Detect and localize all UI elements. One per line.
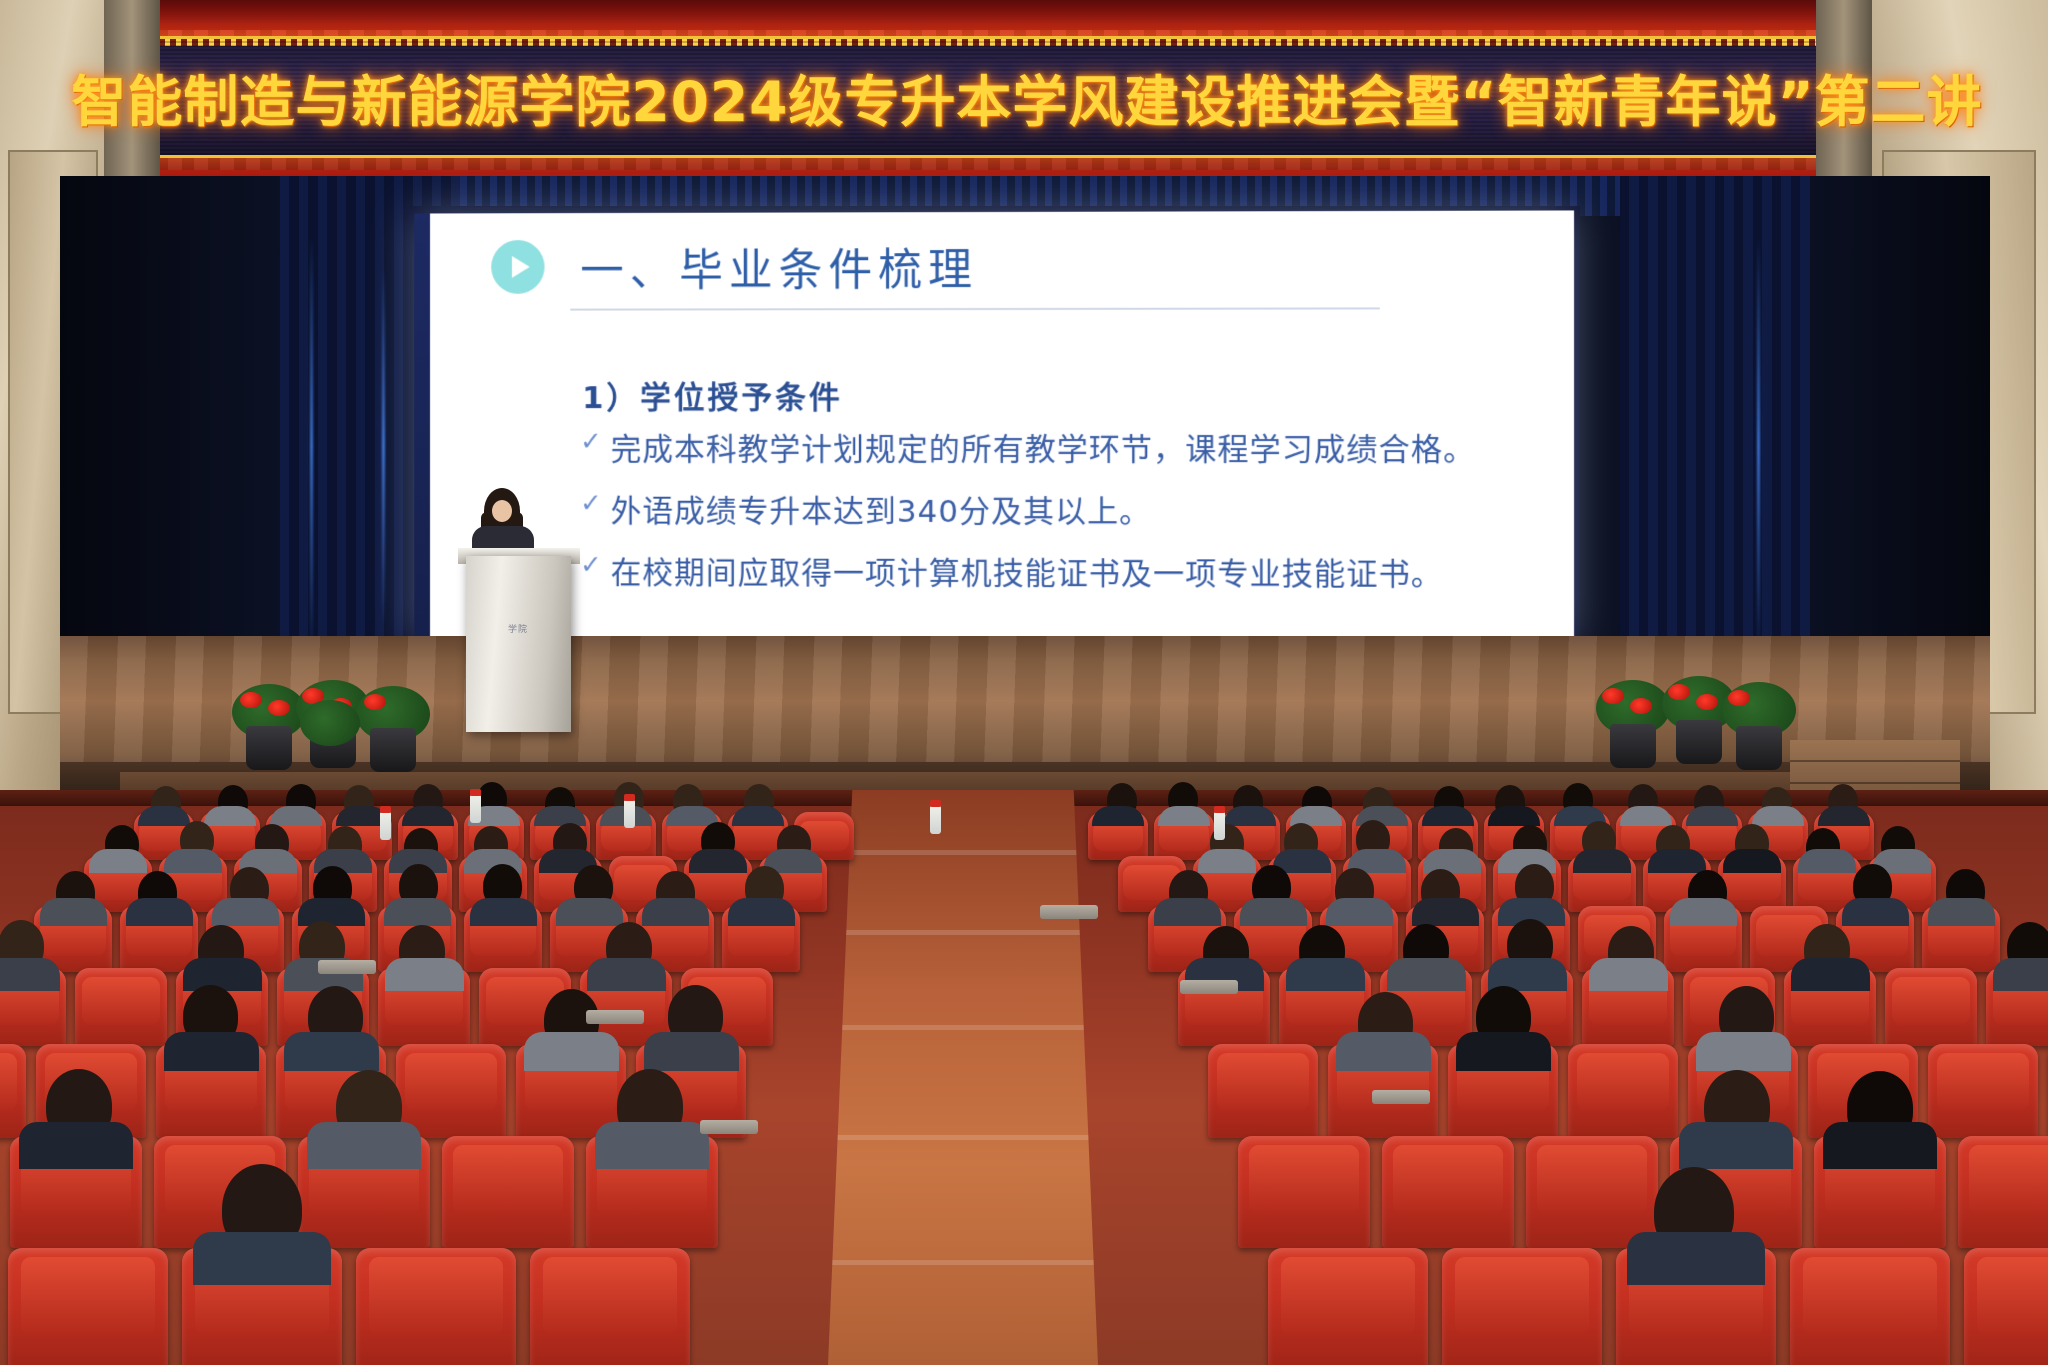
slide-bullet: ✓ 完成本科教学计划规定的所有教学环节，课程学习成绩合格。 [580,424,1475,469]
audience-shoulders [587,958,666,991]
seat [1958,1136,2048,1248]
audience-shoulders [385,958,464,991]
seat [1442,1248,1602,1365]
bottle-cap [470,789,481,796]
water-bottle [930,806,941,834]
seat [1382,1136,1514,1248]
slide-bullet-text: 完成本科教学计划规定的所有教学环节，课程学习成绩合格。 [611,424,1476,469]
audience-shoulders [164,849,222,873]
bottle-cap [380,806,391,813]
podium-sign-text: 学院 [474,622,562,638]
water-bottle [1214,812,1225,840]
seat [0,1044,26,1138]
audience-shoulders [307,1122,421,1169]
tablet-arm-desk [586,1010,644,1024]
audience-shoulders [19,1122,133,1169]
bottle-cap [930,800,941,807]
podium: 学院 [466,556,571,732]
audience-shoulders [1387,958,1466,991]
seat [1790,1248,1950,1365]
audience-shoulders [689,849,747,873]
seat [1964,1248,2048,1365]
audience-shoulders [270,806,322,826]
bottle-cap [624,794,635,801]
audience-shoulders [1928,898,1995,926]
bottle-cap [1214,806,1225,813]
seat [1208,1044,1318,1138]
audience-shoulders [402,806,454,826]
slide-subtitle: 1）学位授予条件 [582,372,843,417]
audience-shoulders [212,898,279,926]
water-bottle [470,795,481,823]
audience-shoulders [1423,849,1481,873]
seat [1885,968,1977,1046]
audience-shoulders [1696,1032,1791,1071]
check-icon: ✓ [580,547,603,583]
audience-shoulders [126,898,193,926]
audience-shoulders [728,898,795,926]
audience-shoulders [204,806,256,826]
audience-shoulders [1198,849,1256,873]
slide-title-row: 一、毕业条件梳理 [491,234,978,299]
seat [442,1136,574,1248]
audience-shoulders [1158,806,1210,826]
audience-shoulders [1818,806,1870,826]
audience-shoulders [642,898,709,926]
audience-shoulders [556,898,623,926]
audience-shoulders [1686,806,1738,826]
audience-shoulders [284,1032,379,1071]
audience-shoulders [1670,898,1737,926]
audience-shoulders [1842,898,1909,926]
seat [530,1248,690,1365]
seat [8,1248,168,1365]
stage-light-beam-left-2 [382,266,385,626]
check-icon: ✓ [580,486,603,522]
audience-shoulders [1336,1032,1431,1071]
auditorium-scene: 智能制造与新能源学院2024级专升本学风建设推进会暨“智新青年说”第二讲 一、毕… [0,0,2048,1365]
audience-shoulders [595,1122,709,1169]
audience-shoulders [470,898,537,926]
slide-bullet: ✓ 在校期间应取得一项计算机技能证书及一项专业技能证书。 [580,547,1475,594]
seat [1526,1136,1658,1248]
audience-shoulders [1092,806,1144,826]
audience-shoulders [1791,958,1870,991]
water-bottle [380,812,391,840]
stage-light-beam-left [310,236,313,656]
stage-light-beam-right [1757,236,1760,656]
audience-shoulders [1240,898,1307,926]
audience-shoulders [1456,1032,1551,1071]
presentation-slide: 一、毕业条件梳理 1）学位授予条件 ✓ 完成本科教学计划规定的所有教学环节，课程… [414,210,1574,643]
audience-shoulders [1412,898,1479,926]
check-icon: ✓ [580,424,603,460]
slide-title-divider [570,307,1380,310]
audience-shoulders [384,898,451,926]
slide-title: 一、毕业条件梳理 [580,234,978,299]
seat [356,1248,516,1365]
audience-shoulders [164,1032,259,1071]
speaker-face [492,500,512,522]
slide-bullet-list: ✓ 完成本科教学计划规定的所有教学环节，课程学习成绩合格。 ✓ 外语成绩专升本达… [580,424,1475,594]
audience-shoulders [1993,958,2048,991]
audience-shoulders [193,1232,331,1285]
audience-shoulders [298,898,365,926]
audience-shoulders [183,958,262,991]
audience-shoulders [732,806,784,826]
audience-shoulders [138,806,190,826]
tablet-arm-desk [1180,980,1238,994]
banner-title-text: 智能制造与新能源学院2024级专升本学风建设推进会暨“智新青年说”第二讲 [71,57,1982,137]
slide-bullet: ✓ 外语成绩专升本达到340分及其以上。 [580,486,1475,532]
audience-shoulders [1326,898,1393,926]
tablet-arm-desk [1372,1090,1430,1104]
tablet-arm-desk [318,960,376,974]
audience-shoulders [1823,1122,1937,1169]
audience-shoulders [1752,806,1804,826]
audience-shoulders [1798,849,1856,873]
audience-shoulders [1422,806,1474,826]
water-bottle [624,800,635,828]
audience-shoulders [1286,958,1365,991]
audience-shoulders [524,1032,619,1071]
ceiling-strip [0,0,2048,26]
led-banner: 智能制造与新能源学院2024级专升本学风建设推进会暨“智新青年说”第二讲 [30,36,2024,158]
audience-shoulders [1224,806,1276,826]
seat [1928,1044,2038,1138]
audience-shoulders [89,849,147,873]
seat [1568,1044,1678,1138]
play-circle-icon [491,240,544,294]
seat [75,968,167,1046]
audience-shoulders [1573,849,1631,873]
audience-shoulders [1627,1232,1765,1285]
audience-shoulders [644,1032,739,1071]
audience-shoulders [1723,849,1781,873]
slide-bullet-text: 在校期间应取得一项计算机技能证书及一项专业技能证书。 [611,547,1444,593]
seat [1238,1136,1370,1248]
audience-shoulders [40,898,107,926]
audience-shoulders [534,806,586,826]
center-aisle [828,790,1098,1365]
audience-shoulders [1620,806,1672,826]
projection-screen: 一、毕业条件梳理 1）学位授予条件 ✓ 完成本科教学计划规定的所有教学环节，课程… [414,210,1574,643]
slide-bullet-text: 外语成绩专升本达到340分及其以上。 [611,486,1152,531]
audience-shoulders [1679,1122,1793,1169]
seat [1268,1248,1428,1365]
slide-left-accent-bar [414,213,430,640]
audience-shoulders [0,958,60,991]
audience-shoulders [1589,958,1668,991]
audience-shoulders [1488,806,1540,826]
tablet-arm-desk [700,1120,758,1134]
tablet-arm-desk [1040,905,1098,919]
audience-shoulders [1154,898,1221,926]
audience-shoulders [1648,849,1706,873]
